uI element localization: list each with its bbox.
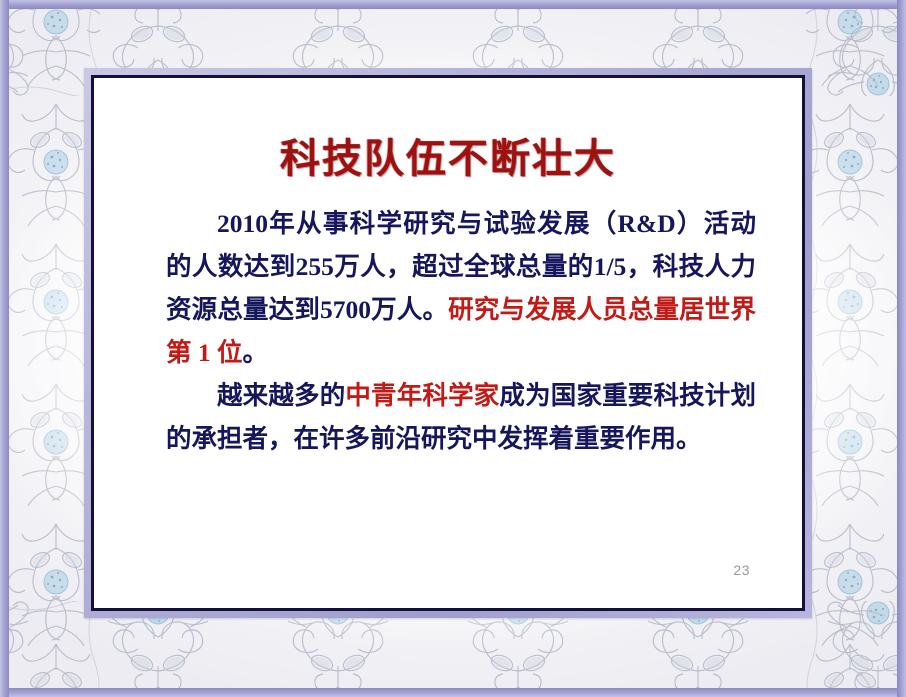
slide-edge-bottom — [0, 688, 906, 697]
slide-edge-left — [0, 0, 9, 697]
page-number: 23 — [733, 562, 750, 578]
paragraph-2-run-red: 中青年科学家 — [345, 381, 499, 410]
body-paragraph-2: 越来越多的中青年科学家成为国家重要科技计划的承担者，在许多前沿研究中发挥着重要作… — [166, 374, 756, 460]
presentation-slide: 科技队伍不断壮大 2010年从事科学研究与试验发展（R&D）活动的人数达到255… — [0, 0, 906, 697]
slide-title: 科技队伍不断壮大 — [94, 126, 802, 184]
body-paragraph-1: 2010年从事科学研究与试验发展（R&D）活动的人数达到255万人，超过全球总量… — [166, 202, 756, 374]
damask-ornament-right-icon — [806, 0, 902, 697]
slide-edge-right — [897, 0, 906, 697]
content-frame: 科技队伍不断壮大 2010年从事科学研究与试验发展（R&D）活动的人数达到255… — [84, 68, 812, 618]
paragraph-1-run-navy-b: 。 — [243, 338, 269, 367]
paragraph-2-run-navy-a: 越来越多的 — [217, 381, 345, 410]
content-card: 科技队伍不断壮大 2010年从事科学研究与试验发展（R&D）活动的人数达到255… — [91, 75, 805, 611]
slide-edge-top — [0, 0, 906, 9]
slide-body-text: 2010年从事科学研究与试验发展（R&D）活动的人数达到255万人，超过全球总量… — [166, 202, 756, 460]
